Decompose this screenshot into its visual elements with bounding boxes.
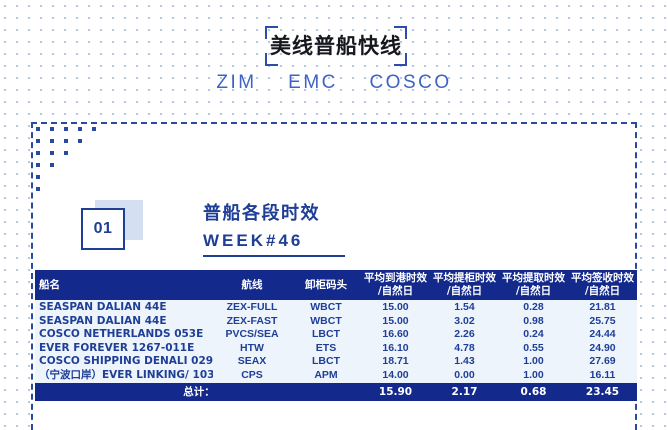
- cell-route: ZEX-FULL: [213, 300, 291, 315]
- table-row[interactable]: SEASPAN DALIAN 44E ZEX-FAST WBCT 15.00 3…: [35, 315, 637, 329]
- content-card: 01 普船各段时效 WEEK#46 船名 航线 卸柜码头: [31, 122, 637, 430]
- title-bracket-frame: 美线普船快线: [265, 26, 407, 66]
- col-header-vessel: 船名: [35, 270, 213, 300]
- cell-pickup: 0.00: [430, 369, 499, 383]
- table-body: SEASPAN DALIAN 44E ZEX-FULL WBCT 15.00 1…: [35, 300, 637, 383]
- cell-delivery: 25.75: [568, 315, 637, 329]
- table-row[interactable]: EVER FOREVER 1267-011E HTW ETS 16.10 4.7…: [35, 342, 637, 356]
- col-header-route-main: 航线: [242, 279, 263, 291]
- table-header: 船名 航线 卸柜码头 平均到港时效 /自然日 平均提柜时效 /自然日: [35, 270, 637, 300]
- table-row[interactable]: COSCO NETHERLANDS 053E PVCS/SEA LBCT 16.…: [35, 328, 637, 342]
- cell-fetch: 0.98: [499, 315, 568, 329]
- col-header-route: 航线: [213, 270, 291, 300]
- cell-fetch: 1.00: [499, 355, 568, 369]
- col-header-pickup: 平均提柜时效 /自然日: [430, 270, 499, 300]
- cell-vessel: （宁波口岸）EVER LINKING/ 1035-0!: [35, 369, 213, 383]
- total-pickup: 2.17: [430, 383, 499, 401]
- cell-delivery: 21.81: [568, 300, 637, 315]
- col-header-pickup-main: 平均提柜时效: [433, 272, 496, 284]
- cell-arrival: 16.60: [361, 328, 430, 342]
- section-heading-cn: 普船各段时效: [203, 202, 503, 226]
- col-header-delivery: 平均签收时效 /自然日: [568, 270, 637, 300]
- cell-fetch: 1.00: [499, 369, 568, 383]
- page-title: 美线普船快线: [265, 26, 407, 66]
- badge-number: 01: [83, 210, 123, 248]
- total-arrival: 15.90: [361, 383, 430, 401]
- cell-delivery: 24.90: [568, 342, 637, 356]
- table-header-row: 船名 航线 卸柜码头 平均到港时效 /自然日 平均提柜时效 /自然日: [35, 270, 637, 300]
- col-header-vessel-main: 船名: [39, 279, 60, 291]
- dot-triangle-decoration: [35, 126, 115, 198]
- col-header-terminal: 卸柜码头: [291, 270, 361, 300]
- cell-delivery: 24.44: [568, 328, 637, 342]
- carrier-list: ZIM EMC COSCO: [0, 72, 668, 94]
- badge-outline-square: 01: [81, 208, 125, 250]
- timeliness-table-wrap: 船名 航线 卸柜码头 平均到港时效 /自然日 平均提柜时效 /自然日: [35, 270, 637, 401]
- cell-delivery: 16.11: [568, 369, 637, 383]
- cell-terminal: APM: [291, 369, 361, 383]
- page-banner: 美线普船快线 ZIM EMC COSCO: [0, 0, 668, 110]
- heading-underline: [203, 255, 345, 257]
- cell-route: ZEX-FAST: [213, 315, 291, 329]
- table-row[interactable]: COSCO SHIPPING DENALI 029E SEAX LBCT 18.…: [35, 355, 637, 369]
- cell-pickup: 2.26: [430, 328, 499, 342]
- cell-fetch: 0.28: [499, 300, 568, 315]
- table-row[interactable]: （宁波口岸）EVER LINKING/ 1035-0! CPS APM 14.0…: [35, 369, 637, 383]
- cell-pickup: 1.54: [430, 300, 499, 315]
- cell-fetch: 0.24: [499, 328, 568, 342]
- cell-arrival: 15.00: [361, 300, 430, 315]
- cell-vessel: COSCO SHIPPING DENALI 029E: [35, 355, 213, 369]
- timeliness-table: 船名 航线 卸柜码头 平均到港时效 /自然日 平均提柜时效 /自然日: [35, 270, 637, 401]
- col-header-arrival: 平均到港时效 /自然日: [361, 270, 430, 300]
- cell-arrival: 16.10: [361, 342, 430, 356]
- table-row[interactable]: SEASPAN DALIAN 44E ZEX-FULL WBCT 15.00 1…: [35, 300, 637, 315]
- cell-vessel: SEASPAN DALIAN 44E: [35, 315, 213, 329]
- col-header-arrival-sub: /自然日: [363, 285, 428, 298]
- section-heading-week: WEEK#46: [203, 230, 503, 252]
- col-header-delivery-main: 平均签收时效: [571, 272, 634, 284]
- cell-fetch: 0.55: [499, 342, 568, 356]
- cell-terminal: LBCT: [291, 328, 361, 342]
- section-badge: 01: [81, 200, 143, 250]
- col-header-fetch-main: 平均提取时效: [502, 272, 565, 284]
- col-header-pickup-sub: /自然日: [432, 285, 497, 298]
- cell-vessel: SEASPAN DALIAN 44E: [35, 300, 213, 315]
- col-header-delivery-sub: /自然日: [570, 285, 635, 298]
- cell-arrival: 14.00: [361, 369, 430, 383]
- cell-pickup: 1.43: [430, 355, 499, 369]
- total-label: 总计：: [35, 383, 361, 401]
- col-header-arrival-main: 平均到港时效: [364, 272, 427, 284]
- section-heading: 普船各段时效 WEEK#46: [203, 202, 503, 257]
- cell-terminal: WBCT: [291, 300, 361, 315]
- cell-pickup: 3.02: [430, 315, 499, 329]
- carrier-zim: ZIM: [216, 72, 256, 93]
- col-header-terminal-main: 卸柜码头: [305, 279, 347, 291]
- cell-arrival: 15.00: [361, 315, 430, 329]
- cell-route: CPS: [213, 369, 291, 383]
- total-delivery: 23.45: [568, 383, 637, 401]
- cell-vessel: EVER FOREVER 1267-011E: [35, 342, 213, 356]
- cell-terminal: LBCT: [291, 355, 361, 369]
- cell-terminal: WBCT: [291, 315, 361, 329]
- col-header-fetch-sub: /自然日: [501, 285, 566, 298]
- cell-delivery: 27.69: [568, 355, 637, 369]
- carrier-emc: EMC: [288, 72, 338, 93]
- total-row: 总计： 15.90 2.17 0.68 23.45: [35, 383, 637, 401]
- cell-terminal: ETS: [291, 342, 361, 356]
- col-header-fetch: 平均提取时效 /自然日: [499, 270, 568, 300]
- carrier-cosco: COSCO: [369, 72, 451, 93]
- cell-route: SEAX: [213, 355, 291, 369]
- cell-vessel: COSCO NETHERLANDS 053E: [35, 328, 213, 342]
- cell-pickup: 4.78: [430, 342, 499, 356]
- cell-route: PVCS/SEA: [213, 328, 291, 342]
- total-fetch: 0.68: [499, 383, 568, 401]
- cell-route: HTW: [213, 342, 291, 356]
- table-footer: 总计： 15.90 2.17 0.68 23.45: [35, 383, 637, 401]
- cell-arrival: 18.71: [361, 355, 430, 369]
